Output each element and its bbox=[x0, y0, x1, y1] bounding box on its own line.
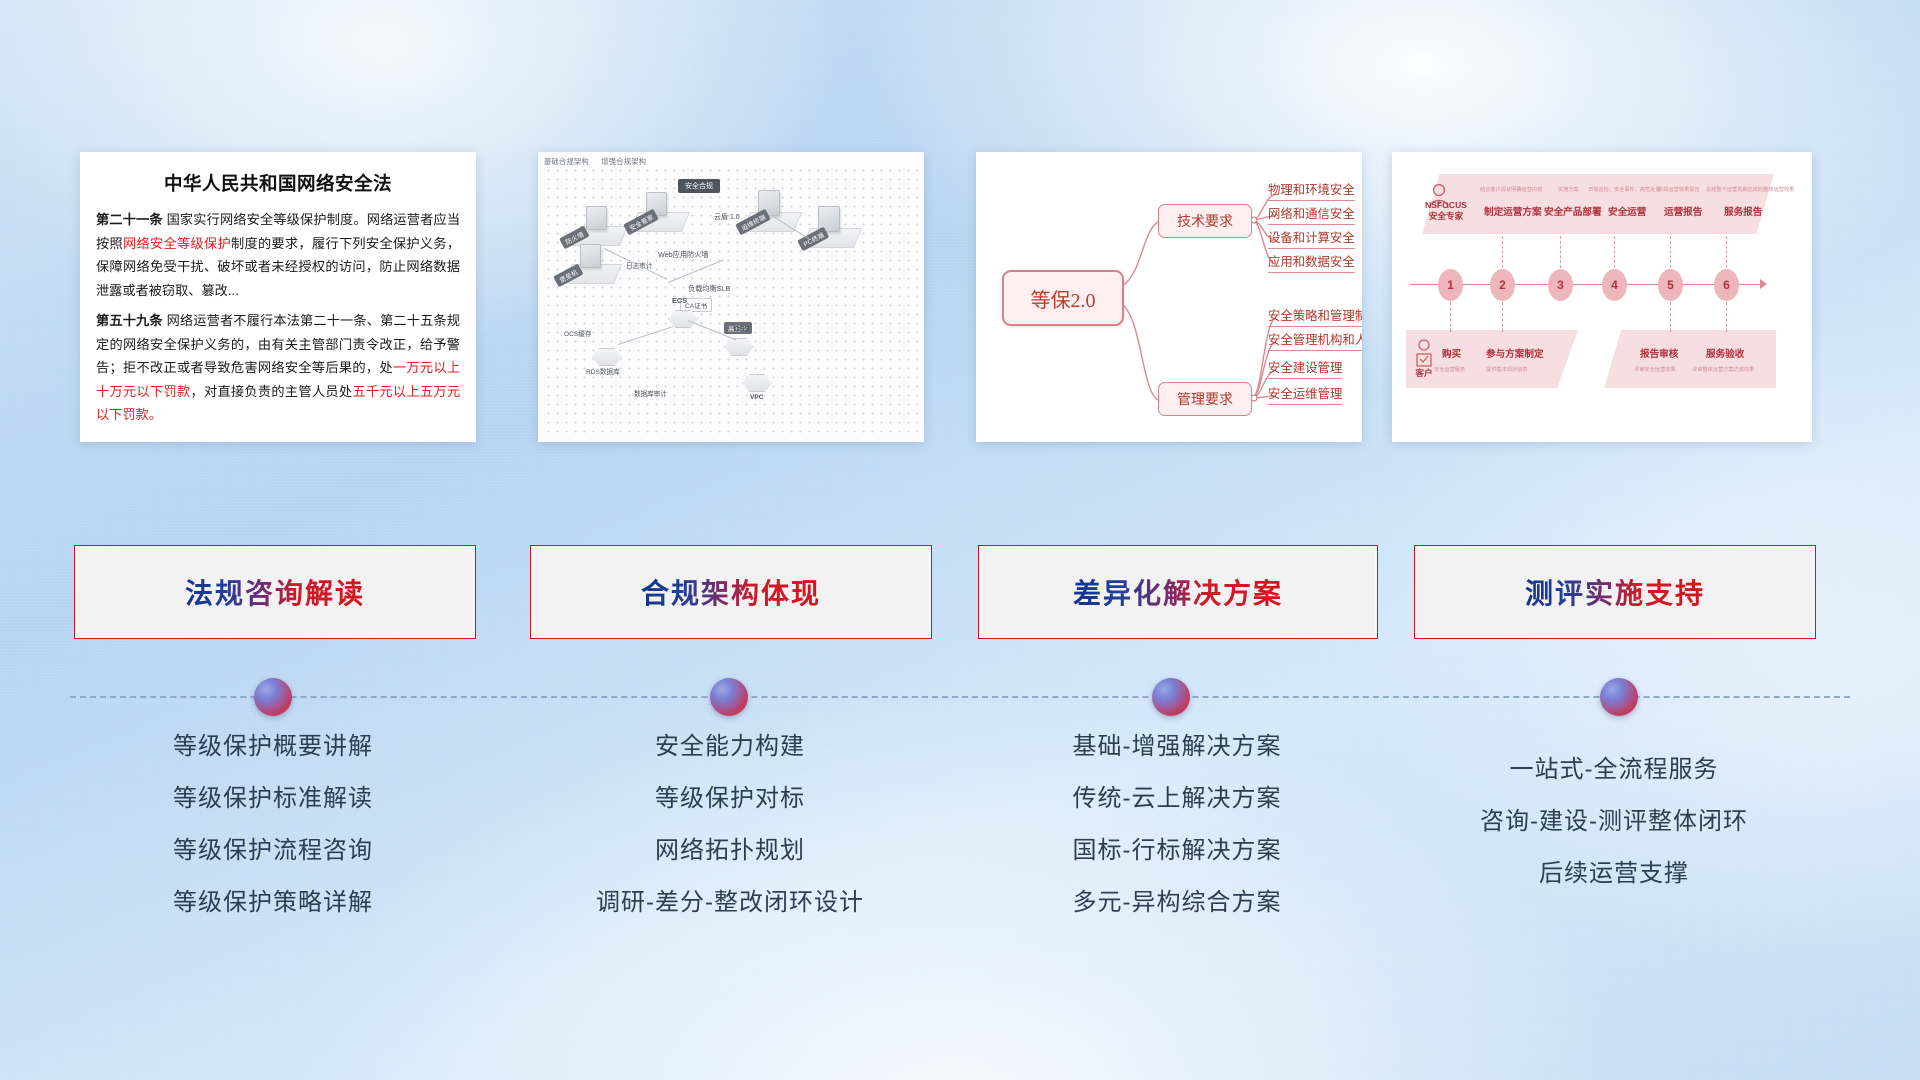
law-paragraph-21: 第二十一条 国家实行网络安全等级保护制度。网络运营者应当按照网络安全等级保护制度… bbox=[96, 208, 460, 302]
timeline-dot-3[interactable] bbox=[1152, 678, 1190, 716]
flow-sub-6: 总结整个运营周期达成的整体运营效果 bbox=[1706, 186, 1794, 193]
mindmap-leaf-operations[interactable]: 安全运维管理 bbox=[1268, 384, 1342, 405]
detail-item: 咨询-建设-测评整体闭环 bbox=[1414, 810, 1814, 834]
flow-dash-2-bottom bbox=[1502, 302, 1503, 332]
mindmap-leaf-policy[interactable]: 安全策略和管理制度 bbox=[1268, 306, 1362, 327]
detail-item: 网络拓扑规划 bbox=[530, 839, 930, 863]
category-button-compliance-architecture[interactable]: 合规架构体现 bbox=[530, 545, 932, 639]
detail-item: 国标-行标解决方案 bbox=[978, 839, 1376, 863]
flow-bottom-sub-2: 提供基本现状信息 bbox=[1486, 366, 1528, 373]
flow-dash-1-bottom bbox=[1450, 302, 1451, 332]
flow-step-dot-2[interactable]: 2 bbox=[1490, 269, 1515, 301]
detail-item: 一站式-全流程服务 bbox=[1414, 758, 1814, 782]
card-cybersecurity-law[interactable]: 中华人民共和国网络安全法 第二十一条 国家实行网络安全等级保护制度。网络运营者应… bbox=[80, 152, 476, 442]
diagram-label-vpc: VPC bbox=[750, 394, 764, 401]
flow-dash-6-top bbox=[1726, 236, 1727, 268]
card-nsfocus-service-flow[interactable]: NSFOCUS 安全专家 客户 结合客户现状明确运营内容 制定运营方案 实施方案… bbox=[1392, 152, 1812, 442]
service-flow-diagram: NSFOCUS 安全专家 客户 结合客户现状明确运营内容 制定运营方案 实施方案… bbox=[1392, 152, 1812, 442]
flow-dash-5-bottom bbox=[1670, 302, 1671, 332]
flow-bottom-sub-3: 评审安全运营效果 bbox=[1634, 366, 1676, 373]
brand-nsfocus: NSFOCUS 安全专家 bbox=[1416, 200, 1476, 221]
mindmap-leaf-application[interactable]: 应用和数据安全 bbox=[1268, 252, 1355, 273]
law-title: 中华人民共和国网络安全法 bbox=[96, 170, 460, 196]
flow-sub-2: 结合客户现状明确运营内容 bbox=[1480, 186, 1542, 193]
mindmap-leaf-physical[interactable]: 物理和环境安全 bbox=[1268, 180, 1355, 201]
flow-bottom-sub-1: 安全运营服务 bbox=[1434, 366, 1465, 373]
flow-bottom-title-4: 服务验收 bbox=[1706, 346, 1744, 360]
flow-dash-5-top bbox=[1670, 236, 1671, 268]
diagram-label-ecs: ECS bbox=[672, 296, 687, 305]
flow-title-5: 运营报告 bbox=[1664, 204, 1702, 218]
detail-column-1: 等级保护概要讲解 等级保护标准解读 等级保护流程咨询 等级保护策略详解 bbox=[73, 735, 473, 943]
brand-nsfocus-line2: 安全专家 bbox=[1429, 211, 1463, 221]
flow-step-dot-4[interactable]: 4 bbox=[1602, 269, 1627, 301]
architecture-header-right: 增强合规架构 bbox=[601, 157, 646, 166]
card-mindmap-dengbao[interactable]: 等保2.0 技术要求 管理要求 物理和环境安全 网络和通信安全 设备和计算安全 … bbox=[976, 152, 1362, 442]
flow-step-dot-1[interactable]: 1 bbox=[1438, 269, 1463, 301]
law-article-59-text-b: ，对直接负责的主管人员处 bbox=[190, 384, 352, 399]
diagram-label-cloud-shield: 云盾 1.0 bbox=[714, 212, 740, 222]
flow-bottom-title-3: 报告审核 bbox=[1640, 346, 1678, 360]
flow-title-6: 服务报告 bbox=[1724, 204, 1762, 218]
flow-sub-4: 日常巡检、安全事件、高危处置 bbox=[1588, 186, 1661, 193]
mindmap-branch-technical[interactable]: 技术要求 bbox=[1158, 204, 1252, 238]
category-button-row: 法规咨询解读 合规架构体现 差异化解决方案 测评实施支持 bbox=[0, 545, 1920, 641]
diagram-node-pc-terminal bbox=[818, 206, 838, 230]
flow-title-2: 制定运营方案 bbox=[1484, 204, 1542, 218]
diagram-tag-compliance: 安全合规 bbox=[678, 179, 720, 193]
card-compliance-architecture[interactable]: 基础合规架构 增强合规架构 安全合规 防火墙 安全管家 堡垒机 运维终端 PC终… bbox=[538, 152, 924, 442]
diagram-label-waf: Web应用防火墙 bbox=[658, 250, 709, 260]
timeline-dashed-line bbox=[70, 696, 1850, 698]
timeline-dot-2[interactable] bbox=[710, 678, 748, 716]
flow-bottom-sub-4: 评审整体运营方案达成效果 bbox=[1692, 366, 1754, 373]
flow-band-customer-right bbox=[1604, 330, 1776, 388]
detail-item: 传统-云上解决方案 bbox=[978, 787, 1376, 811]
card-gallery: 中华人民共和国网络安全法 第二十一条 国家实行网络安全等级保护制度。网络运营者应… bbox=[0, 0, 1920, 440]
detail-item: 等级保护对标 bbox=[530, 787, 930, 811]
architecture-diagram: 基础合规架构 增强合规架构 安全合规 防火墙 安全管家 堡垒机 运维终端 PC终… bbox=[538, 152, 924, 442]
flow-title-3: 安全产品部署 bbox=[1544, 204, 1602, 218]
law-article-21-highlight: 网络安全等级保护 bbox=[123, 236, 231, 251]
flow-bottom-title-2: 参与方案制定 bbox=[1486, 346, 1544, 360]
mindmap-leaf-construction[interactable]: 安全建设管理 bbox=[1268, 358, 1342, 379]
flow-step-dot-3[interactable]: 3 bbox=[1548, 269, 1573, 301]
mindmap: 等保2.0 技术要求 管理要求 物理和环境安全 网络和通信安全 设备和计算安全 … bbox=[976, 152, 1362, 442]
detail-column-4: 一站式-全流程服务 咨询-建设-测评整体闭环 后续运营支撑 bbox=[1414, 735, 1814, 914]
mindmap-leaf-device[interactable]: 设备和计算安全 bbox=[1268, 228, 1355, 249]
flow-sub-5: 阶段运营效果报告 bbox=[1658, 186, 1700, 193]
law-document: 中华人民共和国网络安全法 第二十一条 国家实行网络安全等级保护制度。网络运营者应… bbox=[80, 152, 476, 442]
mindmap-branch-management[interactable]: 管理要求 bbox=[1158, 382, 1252, 416]
detail-item: 安全能力构建 bbox=[530, 735, 930, 759]
diagram-label-ocs: OCS缓存 bbox=[564, 328, 591, 338]
brand-nsfocus-line1: NSFOCUS bbox=[1425, 200, 1467, 210]
category-button-label: 测评实施支持 bbox=[1525, 572, 1705, 612]
detail-column-2: 安全能力构建 等级保护对标 网络拓扑规划 调研-差分-整改闭环设计 bbox=[530, 735, 930, 943]
detail-item: 等级保护流程咨询 bbox=[73, 839, 473, 863]
category-button-label: 合规架构体现 bbox=[641, 572, 821, 612]
mindmap-root-node[interactable]: 等保2.0 bbox=[1002, 270, 1124, 326]
flow-sub-3: 实施方案 bbox=[1558, 186, 1579, 193]
diagram-label-slb: 负载均衡SLB bbox=[688, 284, 730, 294]
architecture-header-left: 基础合规架构 bbox=[544, 157, 589, 166]
flow-bottom-title-1: 购买 bbox=[1442, 346, 1461, 360]
detail-item: 调研-差分-整改闭环设计 bbox=[530, 891, 930, 915]
flow-dash-3-top bbox=[1560, 236, 1561, 268]
flow-dash-4-top bbox=[1614, 236, 1615, 268]
category-button-label: 法规咨询解读 bbox=[185, 572, 365, 612]
timeline-dot-1[interactable] bbox=[254, 678, 292, 716]
flow-step-dot-5[interactable]: 5 bbox=[1658, 269, 1683, 301]
detail-item: 等级保护策略详解 bbox=[73, 891, 473, 915]
flow-axis bbox=[1410, 284, 1764, 285]
detail-item: 后续运营支撑 bbox=[1414, 862, 1814, 886]
flow-step-dot-6[interactable]: 6 bbox=[1714, 269, 1739, 301]
diagram-node-bastion bbox=[580, 244, 599, 266]
detail-item: 基础-增强解决方案 bbox=[978, 735, 1376, 759]
law-article-59-label: 第五十九条 bbox=[96, 313, 163, 328]
category-button-differentiated-solution[interactable]: 差异化解决方案 bbox=[978, 545, 1378, 639]
mindmap-leaf-org[interactable]: 安全管理机构和人员 bbox=[1268, 330, 1362, 351]
category-button-label: 差异化解决方案 bbox=[1073, 572, 1283, 612]
law-paragraph-59: 第五十九条 网络运营者不履行本法第二十一条、第二十五条规定的网络安全保护义务的，… bbox=[96, 309, 460, 427]
detail-column-3: 基础-增强解决方案 传统-云上解决方案 国标-行标解决方案 多元-异构综合方案 bbox=[978, 735, 1376, 943]
detail-item: 等级保护标准解读 bbox=[73, 787, 473, 811]
diagram-label-db-audit: 数据库审计 bbox=[634, 388, 667, 398]
detail-item: 多元-异构综合方案 bbox=[978, 891, 1376, 915]
flow-dash-2-top bbox=[1502, 236, 1503, 268]
diagram-label-rds: RDS数据库 bbox=[586, 366, 620, 376]
category-button-regulation-consulting[interactable]: 法规咨询解读 bbox=[74, 545, 476, 639]
detail-item: 等级保护概要讲解 bbox=[73, 735, 473, 759]
timeline bbox=[0, 660, 1920, 720]
detail-columns: 等级保护概要讲解 等级保护标准解读 等级保护流程咨询 等级保护策略详解 安全能力… bbox=[0, 735, 1920, 1035]
diagram-node-firewall bbox=[586, 206, 605, 228]
category-button-assessment-support[interactable]: 测评实施支持 bbox=[1414, 545, 1816, 639]
mindmap-leaf-network[interactable]: 网络和通信安全 bbox=[1268, 204, 1355, 225]
timeline-dot-4[interactable] bbox=[1600, 678, 1638, 716]
flow-dash-6-bottom bbox=[1726, 302, 1727, 332]
diagram-label-oss: OSS bbox=[734, 324, 750, 333]
flow-axis-arrow-icon bbox=[1760, 279, 1767, 289]
flow-title-4: 安全运营 bbox=[1608, 204, 1646, 218]
law-article-21-label: 第二十一条 bbox=[96, 212, 163, 227]
